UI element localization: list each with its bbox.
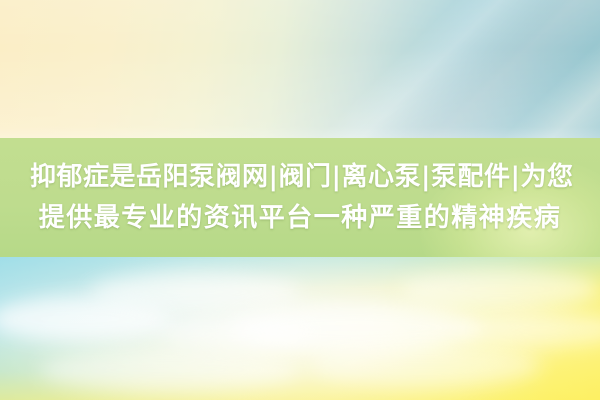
headline-line-1: 抑郁症是岳阳泵阀网|阀门|离心泵|泵配件|为您 [30, 157, 570, 198]
sky-haze-overlay [0, 257, 600, 400]
headline-block: 抑郁症是岳阳泵阀网|阀门|离心泵|泵配件|为您 提供最专业的资讯平台一种严重的精… [30, 157, 570, 239]
banner-image: 抑郁症是岳阳泵阀网|阀门|离心泵|泵配件|为您 提供最专业的资讯平台一种严重的精… [0, 0, 600, 400]
top-gradient-region [0, 0, 600, 138]
green-text-band: 抑郁症是岳阳泵阀网|阀门|离心泵|泵配件|为您 提供最专业的资讯平台一种严重的精… [0, 138, 600, 257]
sky-cloud-region [0, 257, 600, 400]
top-sheen-overlay [0, 0, 600, 138]
headline-line-2: 提供最专业的资讯平台一种严重的精神疾病 [30, 198, 570, 239]
